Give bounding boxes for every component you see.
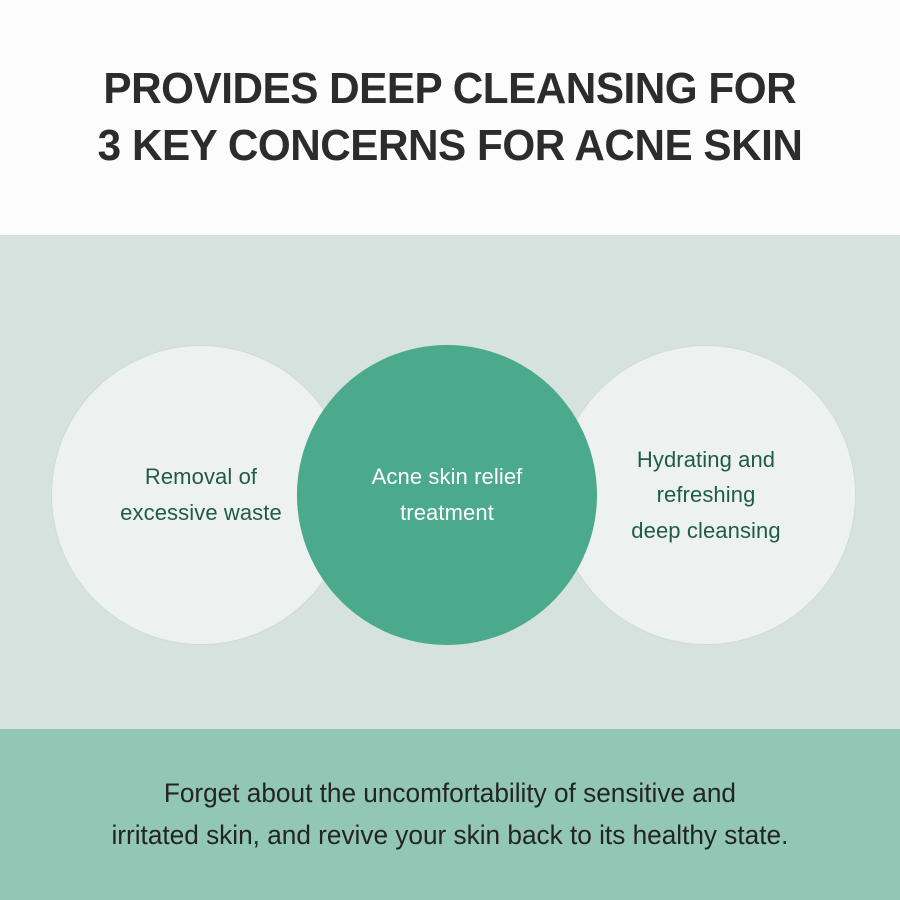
footer-copy-line-2: irritated skin, and revive your skin bac… xyxy=(112,815,789,857)
header-section: PROVIDES DEEP CLEANSING FOR 3 KEY CONCER… xyxy=(0,0,900,235)
venn-circle-acne-relief-label-line-2: treatment xyxy=(372,495,523,531)
venn-circle-hydrating-label-line-3: deep cleansing xyxy=(631,513,780,549)
venn-circle-removal-label-line-2: excessive waste xyxy=(120,495,282,531)
venn-circle-acne-relief: Acne skin relief treatment xyxy=(297,345,597,645)
venn-circle-acne-relief-label-line-1: Acne skin relief xyxy=(372,459,523,495)
footer-copy-line-1: Forget about the uncomfortability of sen… xyxy=(112,773,789,815)
venn-circle-hydrating-label-line-2: refreshing xyxy=(631,477,780,513)
venn-circle-removal-label: Removal of excessive waste xyxy=(120,459,282,530)
venn-circle-hydrating-label: Hydrating and refreshing deep cleansing xyxy=(631,442,780,549)
venn-circle-hydrating-label-line-1: Hydrating and xyxy=(631,442,780,478)
venn-circle-hydrating: Hydrating and refreshing deep cleansing xyxy=(556,345,856,645)
venn-diagram-section: Removal of excessive waste Hydrating and… xyxy=(0,235,900,729)
footer-section: Forget about the uncomfortability of sen… xyxy=(0,729,900,900)
page-title-line-2: 3 KEY CONCERNS FOR ACNE SKIN xyxy=(98,118,803,174)
footer-copy: Forget about the uncomfortability of sen… xyxy=(112,773,789,857)
venn-circle-acne-relief-label: Acne skin relief treatment xyxy=(372,459,523,530)
infographic-page: PROVIDES DEEP CLEANSING FOR 3 KEY CONCER… xyxy=(0,0,900,900)
venn-circle-removal-label-line-1: Removal of xyxy=(120,459,282,495)
page-title-line-1: PROVIDES DEEP CLEANSING FOR xyxy=(104,61,797,117)
